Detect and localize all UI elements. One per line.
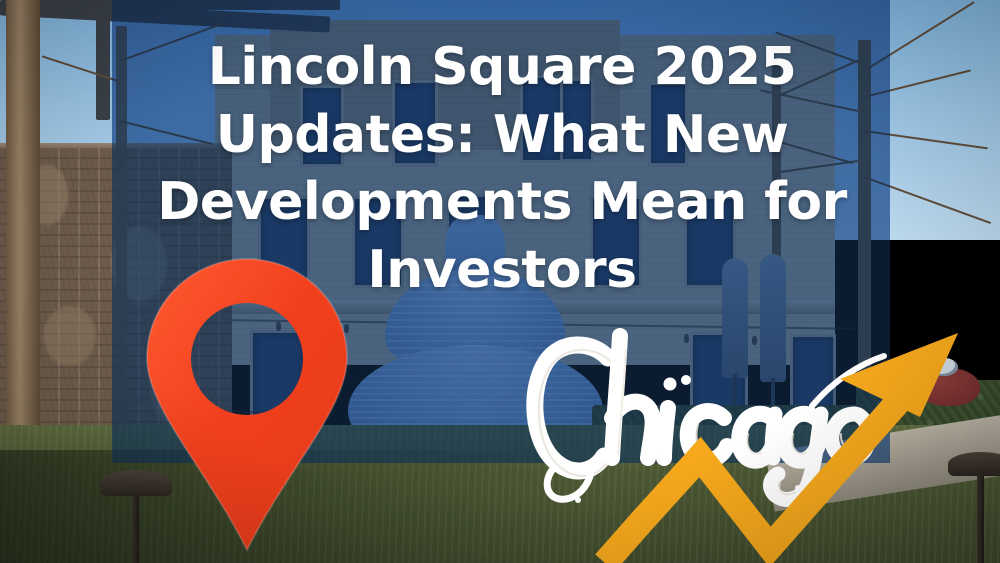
wooden-post <box>6 0 40 470</box>
growth-arrow-icon <box>590 325 1000 563</box>
path-lamp-stem <box>132 492 139 563</box>
pergola-beam <box>96 0 110 120</box>
map-pin-icon <box>146 258 348 552</box>
hero-banner: Lincoln Square 2025 Updates: What New De… <box>0 0 1000 563</box>
